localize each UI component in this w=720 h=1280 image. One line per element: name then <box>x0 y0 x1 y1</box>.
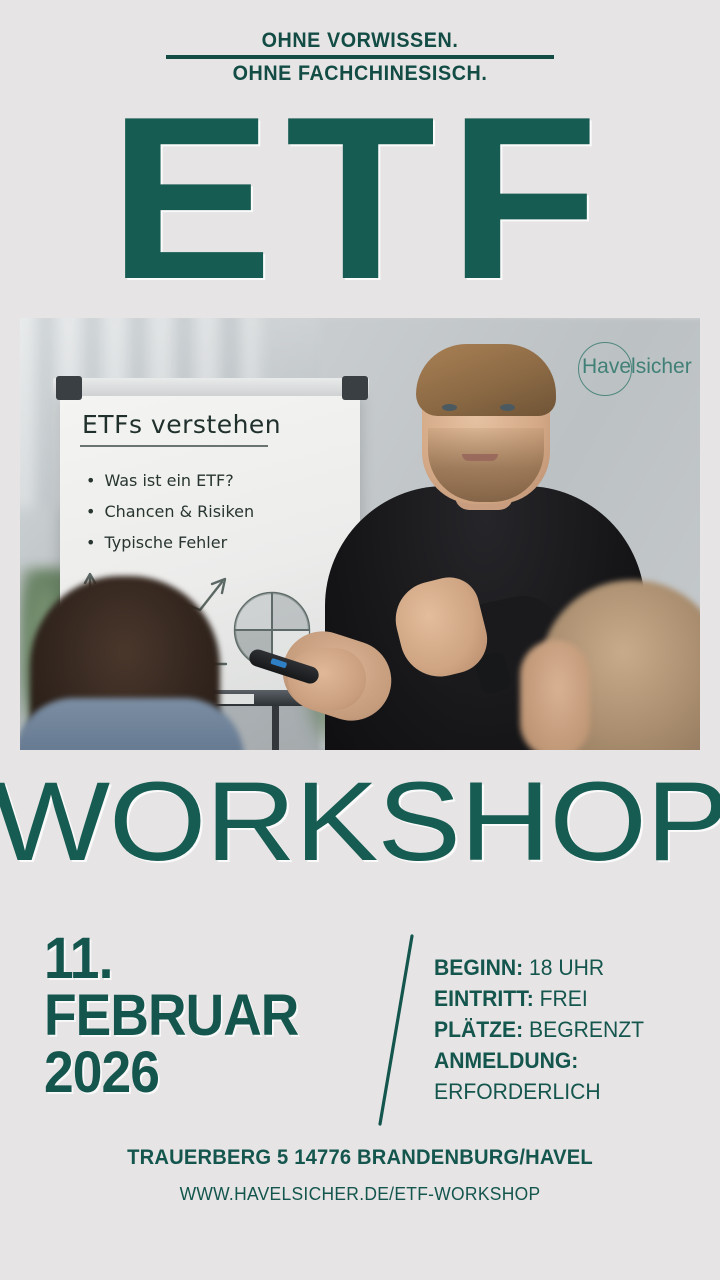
eyebrow-divider-rule <box>166 55 554 59</box>
detail-row-beginn: BEGINN: 18 UHR <box>434 952 693 983</box>
flipchart-title: ETFs verstehen <box>82 410 281 439</box>
event-date-day: 11. <box>44 930 348 987</box>
flipchart-top-rail <box>53 378 369 396</box>
detail-value: BEGRENZT <box>529 1017 644 1042</box>
detail-label: PLÄTZE: <box>434 1017 523 1042</box>
detail-value: ERFORDERLICH <box>434 1076 693 1107</box>
event-date-year: 2026 <box>44 1044 348 1101</box>
speaker-eye-left <box>442 404 457 411</box>
detail-row-plaetze: PLÄTZE: BEGRENZT <box>434 1014 693 1045</box>
detail-label: ANMELDUNG: <box>434 1048 578 1073</box>
detail-row-anmeldung: ANMELDUNG: ERFORDERLICH <box>434 1045 693 1107</box>
audience-person-right-face <box>520 640 590 750</box>
event-date-month: FEBRUAR <box>44 987 348 1044</box>
detail-value: FREI <box>540 986 588 1011</box>
headline-etf: ETF <box>0 88 720 310</box>
flipchart-bullet: Chancen & Risiken <box>86 496 254 527</box>
flipchart-bullet: Was ist ein ETF? <box>86 465 254 496</box>
flipchart-bullets: Was ist ein ETF? Chancen & Risiken Typis… <box>86 465 254 558</box>
detail-label: EINTRITT: <box>434 986 534 1011</box>
event-date-block: 11. FEBRUAR 2026 <box>44 930 348 1101</box>
flipchart-clip-left <box>56 376 82 400</box>
venue-address: TRAUERBERG 5 14776 BRANDENBURG/HAVEL <box>14 1146 705 1170</box>
flipchart-bullet: Typische Fehler <box>86 527 254 558</box>
headline-workshop: WORKSHOP <box>0 766 720 878</box>
detail-value: 18 UHR <box>529 955 604 980</box>
logo-wordmark: Havelsicher <box>582 355 692 379</box>
audience-person-left-shirt <box>20 698 244 750</box>
eyebrow-line-1: OHNE VORWISSEN. <box>22 28 699 54</box>
speaker-hair <box>416 344 556 416</box>
detail-row-eintritt: EINTRITT: FREI <box>434 983 693 1014</box>
registration-url[interactable]: WWW.HAVELSICHER.DE/ETF-WORKSHOP <box>11 1184 709 1205</box>
hero-photo: ETFs verstehen Was ist ein ETF? Chancen … <box>20 318 700 750</box>
speaker-mouth <box>462 454 498 461</box>
flipchart-leg-right <box>272 706 279 750</box>
diagonal-divider-icon <box>378 932 418 1128</box>
detail-label: BEGINN: <box>434 955 523 980</box>
poster-root: OHNE VORWISSEN. OHNE FACHCHINESISCH. ETF… <box>0 0 720 1280</box>
flipchart-title-underline <box>80 445 268 447</box>
event-details-list: BEGINN: 18 UHR EINTRITT: FREI PLÄTZE: BE… <box>434 952 693 1107</box>
havelsicher-logo: Havelsicher <box>560 342 700 392</box>
speaker-eye-right <box>500 404 515 411</box>
